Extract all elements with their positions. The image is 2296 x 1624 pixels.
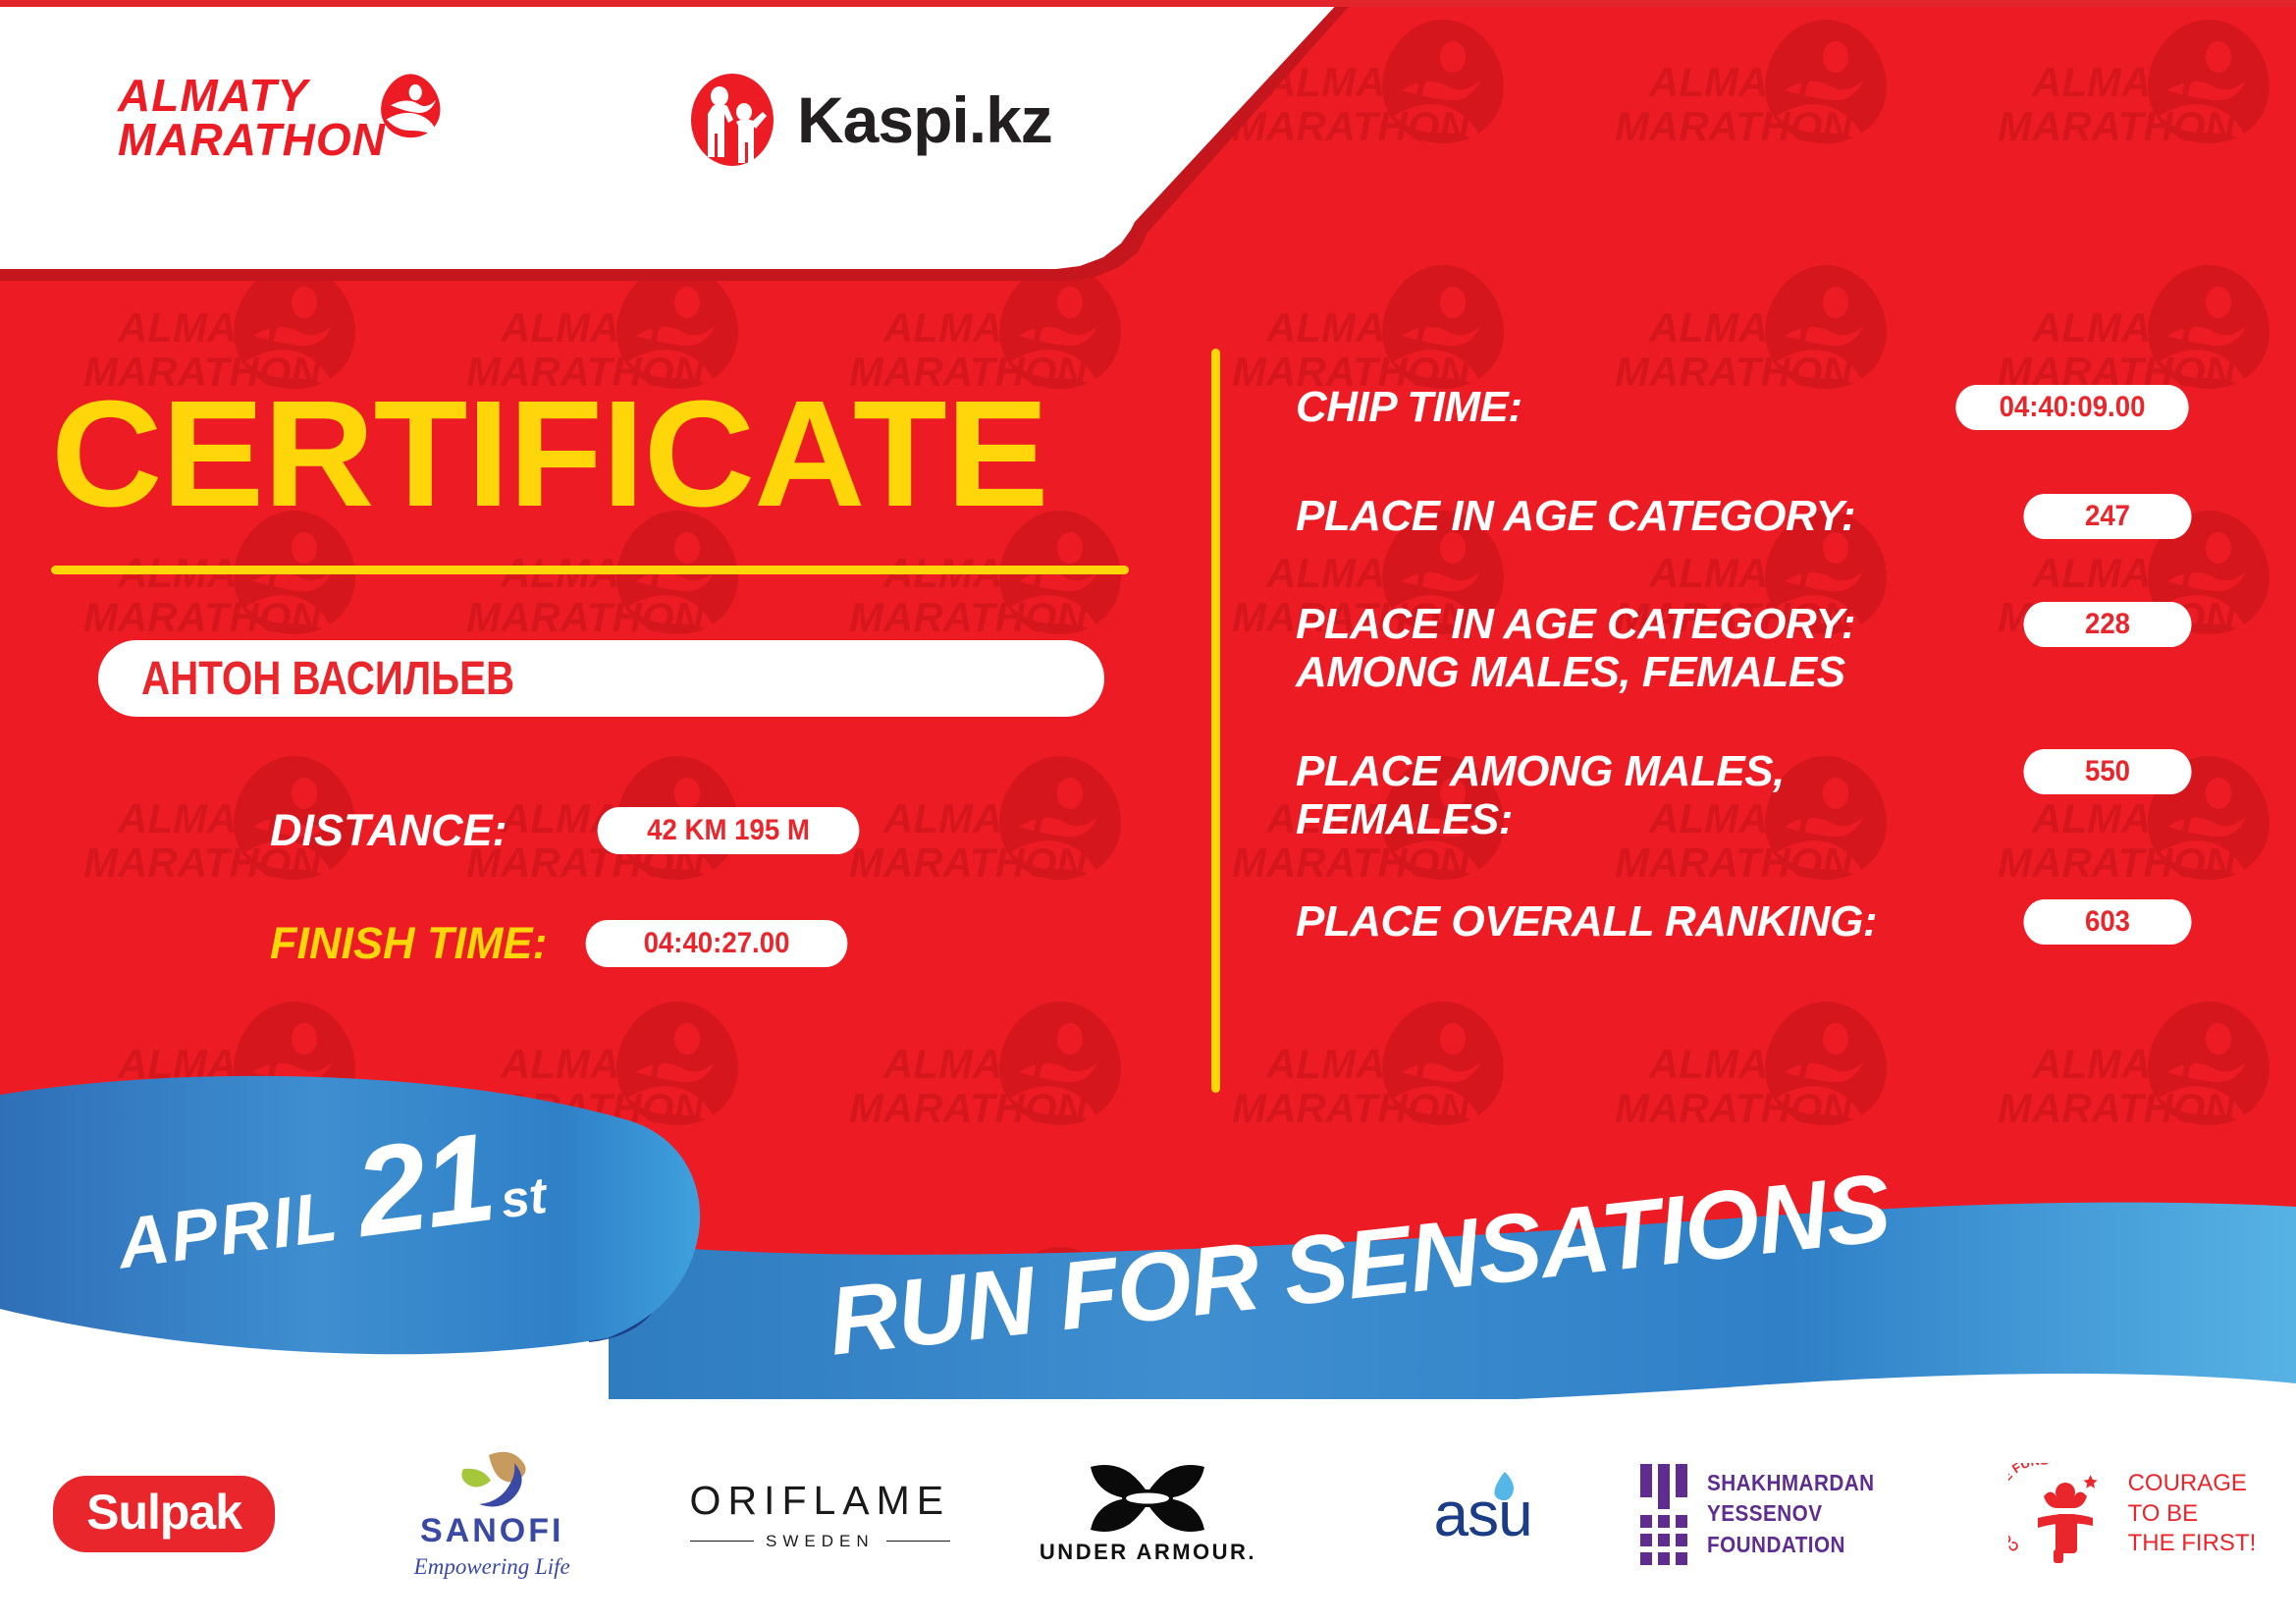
sponsor-asu: asu — [1312, 1445, 1640, 1583]
kaspi-people-circle-icon — [687, 71, 777, 169]
courage-fund-runner-icon: CORPORATE FUND — [2008, 1463, 2114, 1565]
chip-time-label: CHIP TIME: — [1296, 383, 1946, 431]
yessenov-bars-icon — [1640, 1464, 1687, 1565]
distance-row: DISTANCE: 42 KM 195 M — [270, 805, 871, 856]
kaspi-logo: Kaspi.kz — [687, 61, 1052, 179]
stat-row-place-age: PLACE IN AGE CATEGORY: 247 — [1296, 492, 2199, 540]
almaty-marathon-wordmark: ALMATY MARATHON — [118, 74, 386, 162]
sanofi-wordmark: SANOFI — [420, 1512, 563, 1550]
oriflame-rule-left — [690, 1541, 754, 1543]
stat-row-place-overall: PLACE OVERALL RANKING: 603 — [1296, 897, 2199, 946]
svg-text:CORPORATE FUND: CORPORATE FUND — [2008, 1463, 2050, 1555]
kaspi-wordmark: Kaspi.kz — [797, 82, 1052, 157]
almaty-marathon-logo: ALMATY MARATHON — [118, 49, 442, 187]
finish-time-value: 04:40:27.00 — [586, 920, 848, 967]
oriflame-logo: ORIFLAME SWEDEN — [690, 1478, 951, 1551]
under-armour-mark-icon — [1085, 1463, 1210, 1534]
sponsor-yessenov-foundation: SHAKHMARDAN YESSENOV FOUNDATION — [1640, 1445, 1968, 1583]
stat-row-place-age-gender: PLACE IN AGE CATEGORY: AMONG MALES, FEMA… — [1296, 600, 2199, 697]
place-gender-label: PLACE AMONG MALES, FEMALES: — [1296, 747, 2016, 844]
place-age-value: 247 — [2023, 494, 2191, 539]
oriflame-wordmark: ORIFLAME — [690, 1478, 951, 1524]
distance-value: 42 KM 195 M — [597, 807, 859, 854]
top-red-rule — [0, 0, 2296, 7]
under-armour-wordmark: UNDER ARMOUR. — [1040, 1540, 1256, 1565]
yessenov-foundation-logo: SHAKHMARDAN YESSENOV FOUNDATION — [1640, 1464, 1968, 1565]
distance-label: DISTANCE: — [270, 805, 507, 856]
sulpak-logo: Sulpak — [53, 1476, 275, 1552]
sponsor-sulpak: Sulpak — [0, 1445, 328, 1583]
logo-line-1: ALMATY — [118, 74, 386, 118]
runner-in-teardrop-icon — [380, 44, 442, 167]
sanofi-logo: SANOFI Empowering Life — [414, 1449, 570, 1580]
sponsors-strip: Sulpak SANOFI Empowering Life ORIFLAME S… — [0, 1404, 2296, 1624]
event-month: APRIL — [113, 1176, 344, 1285]
event-day-ordinal: st — [498, 1166, 551, 1231]
sanofi-tagline: Empowering Life — [414, 1554, 570, 1580]
place-overall-value: 603 — [2023, 899, 2191, 945]
yessenov-line-2: FOUNDATION — [1707, 1530, 1943, 1560]
title-underline — [51, 566, 1129, 574]
place-age-gender-label: PLACE IN AGE CATEGORY: AMONG MALES, FEMA… — [1296, 600, 2016, 697]
participant-name: АНТОН ВАСИЛЬЕВ — [141, 652, 514, 706]
finish-time-row: FINISH TIME: 04:40:27.00 — [270, 918, 859, 969]
oriflame-sub-row: SWEDEN — [690, 1532, 951, 1551]
vertical-divider — [1211, 349, 1220, 1093]
courage-fund-ring-text: CORPORATE FUND — [2008, 1463, 2050, 1555]
oriflame-sub: SWEDEN — [766, 1532, 875, 1551]
yessenov-line-1: SHAKHMARDAN YESSENOV — [1707, 1468, 1943, 1529]
place-age-label: PLACE IN AGE CATEGORY: — [1296, 492, 2016, 540]
stats-panel: CHIP TIME: 04:40:09.00 PLACE IN AGE CATE… — [1296, 383, 2199, 946]
sponsor-sanofi: SANOFI Empowering Life — [328, 1445, 656, 1583]
sponsor-courage-fund: CORPORATE FUND COURAGE TO BE THE FIRST! — [1968, 1445, 2296, 1583]
place-age-gender-value: 228 — [2023, 602, 2191, 647]
page-title: CERTIFICATE — [51, 378, 1048, 529]
sponsor-under-armour: UNDER ARMOUR. — [984, 1445, 1311, 1583]
under-armour-logo: UNDER ARMOUR. — [1040, 1463, 1256, 1565]
place-overall-label: PLACE OVERALL RANKING: — [1296, 897, 2016, 946]
participant-name-field: АНТОН ВАСИЛЬЕВ — [98, 640, 1104, 717]
certificate-page: ALMATY MARATHON ALMATY MARATHON — [0, 0, 2296, 1624]
yessenov-foundation-text: SHAKHMARDAN YESSENOV FOUNDATION — [1707, 1468, 1943, 1559]
stat-row-place-gender: PLACE AMONG MALES, FEMALES: 550 — [1296, 747, 2199, 844]
sponsor-oriflame: ORIFLAME SWEDEN — [656, 1445, 984, 1583]
logo-line-2: MARATHON — [118, 118, 386, 162]
chip-time-value: 04:40:09.00 — [1955, 385, 2188, 430]
sanofi-mark-icon — [450, 1449, 534, 1508]
place-gender-value: 550 — [2023, 749, 2191, 794]
stat-row-chip-time: CHIP TIME: 04:40:09.00 — [1296, 383, 2199, 431]
courage-fund-slogan: COURAGE TO BE THE FIRST! — [2128, 1469, 2257, 1559]
finish-time-label: FINISH TIME: — [270, 918, 547, 969]
asu-logo: asu — [1434, 1478, 1519, 1550]
asu-droplet-icon — [1489, 1470, 1519, 1515]
oriflame-rule-right — [886, 1541, 950, 1543]
courage-fund-logo: CORPORATE FUND COURAGE TO BE THE FIRST! — [2008, 1463, 2257, 1565]
event-day: 21 — [347, 1105, 501, 1266]
